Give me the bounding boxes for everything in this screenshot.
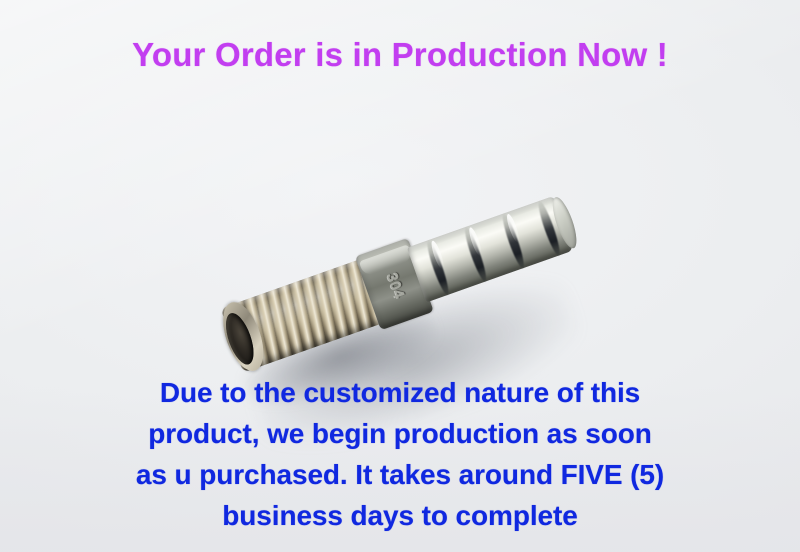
page-title: Your Order is in Production Now ! [0,36,800,74]
notice-line: product, we begin production as soon [0,413,800,454]
notice-image: Your Order is in Production Now ! 304 [0,0,800,552]
notice-line: as u purchased. It takes around FIVE (5) [0,454,800,495]
notice-line: business days to complete [0,495,800,536]
bore-opening [220,310,259,368]
production-notice-text: Due to the customized nature of this pro… [0,372,800,536]
product-photo: 304 [0,110,800,380]
notice-line: Due to the customized nature of this [0,372,800,413]
